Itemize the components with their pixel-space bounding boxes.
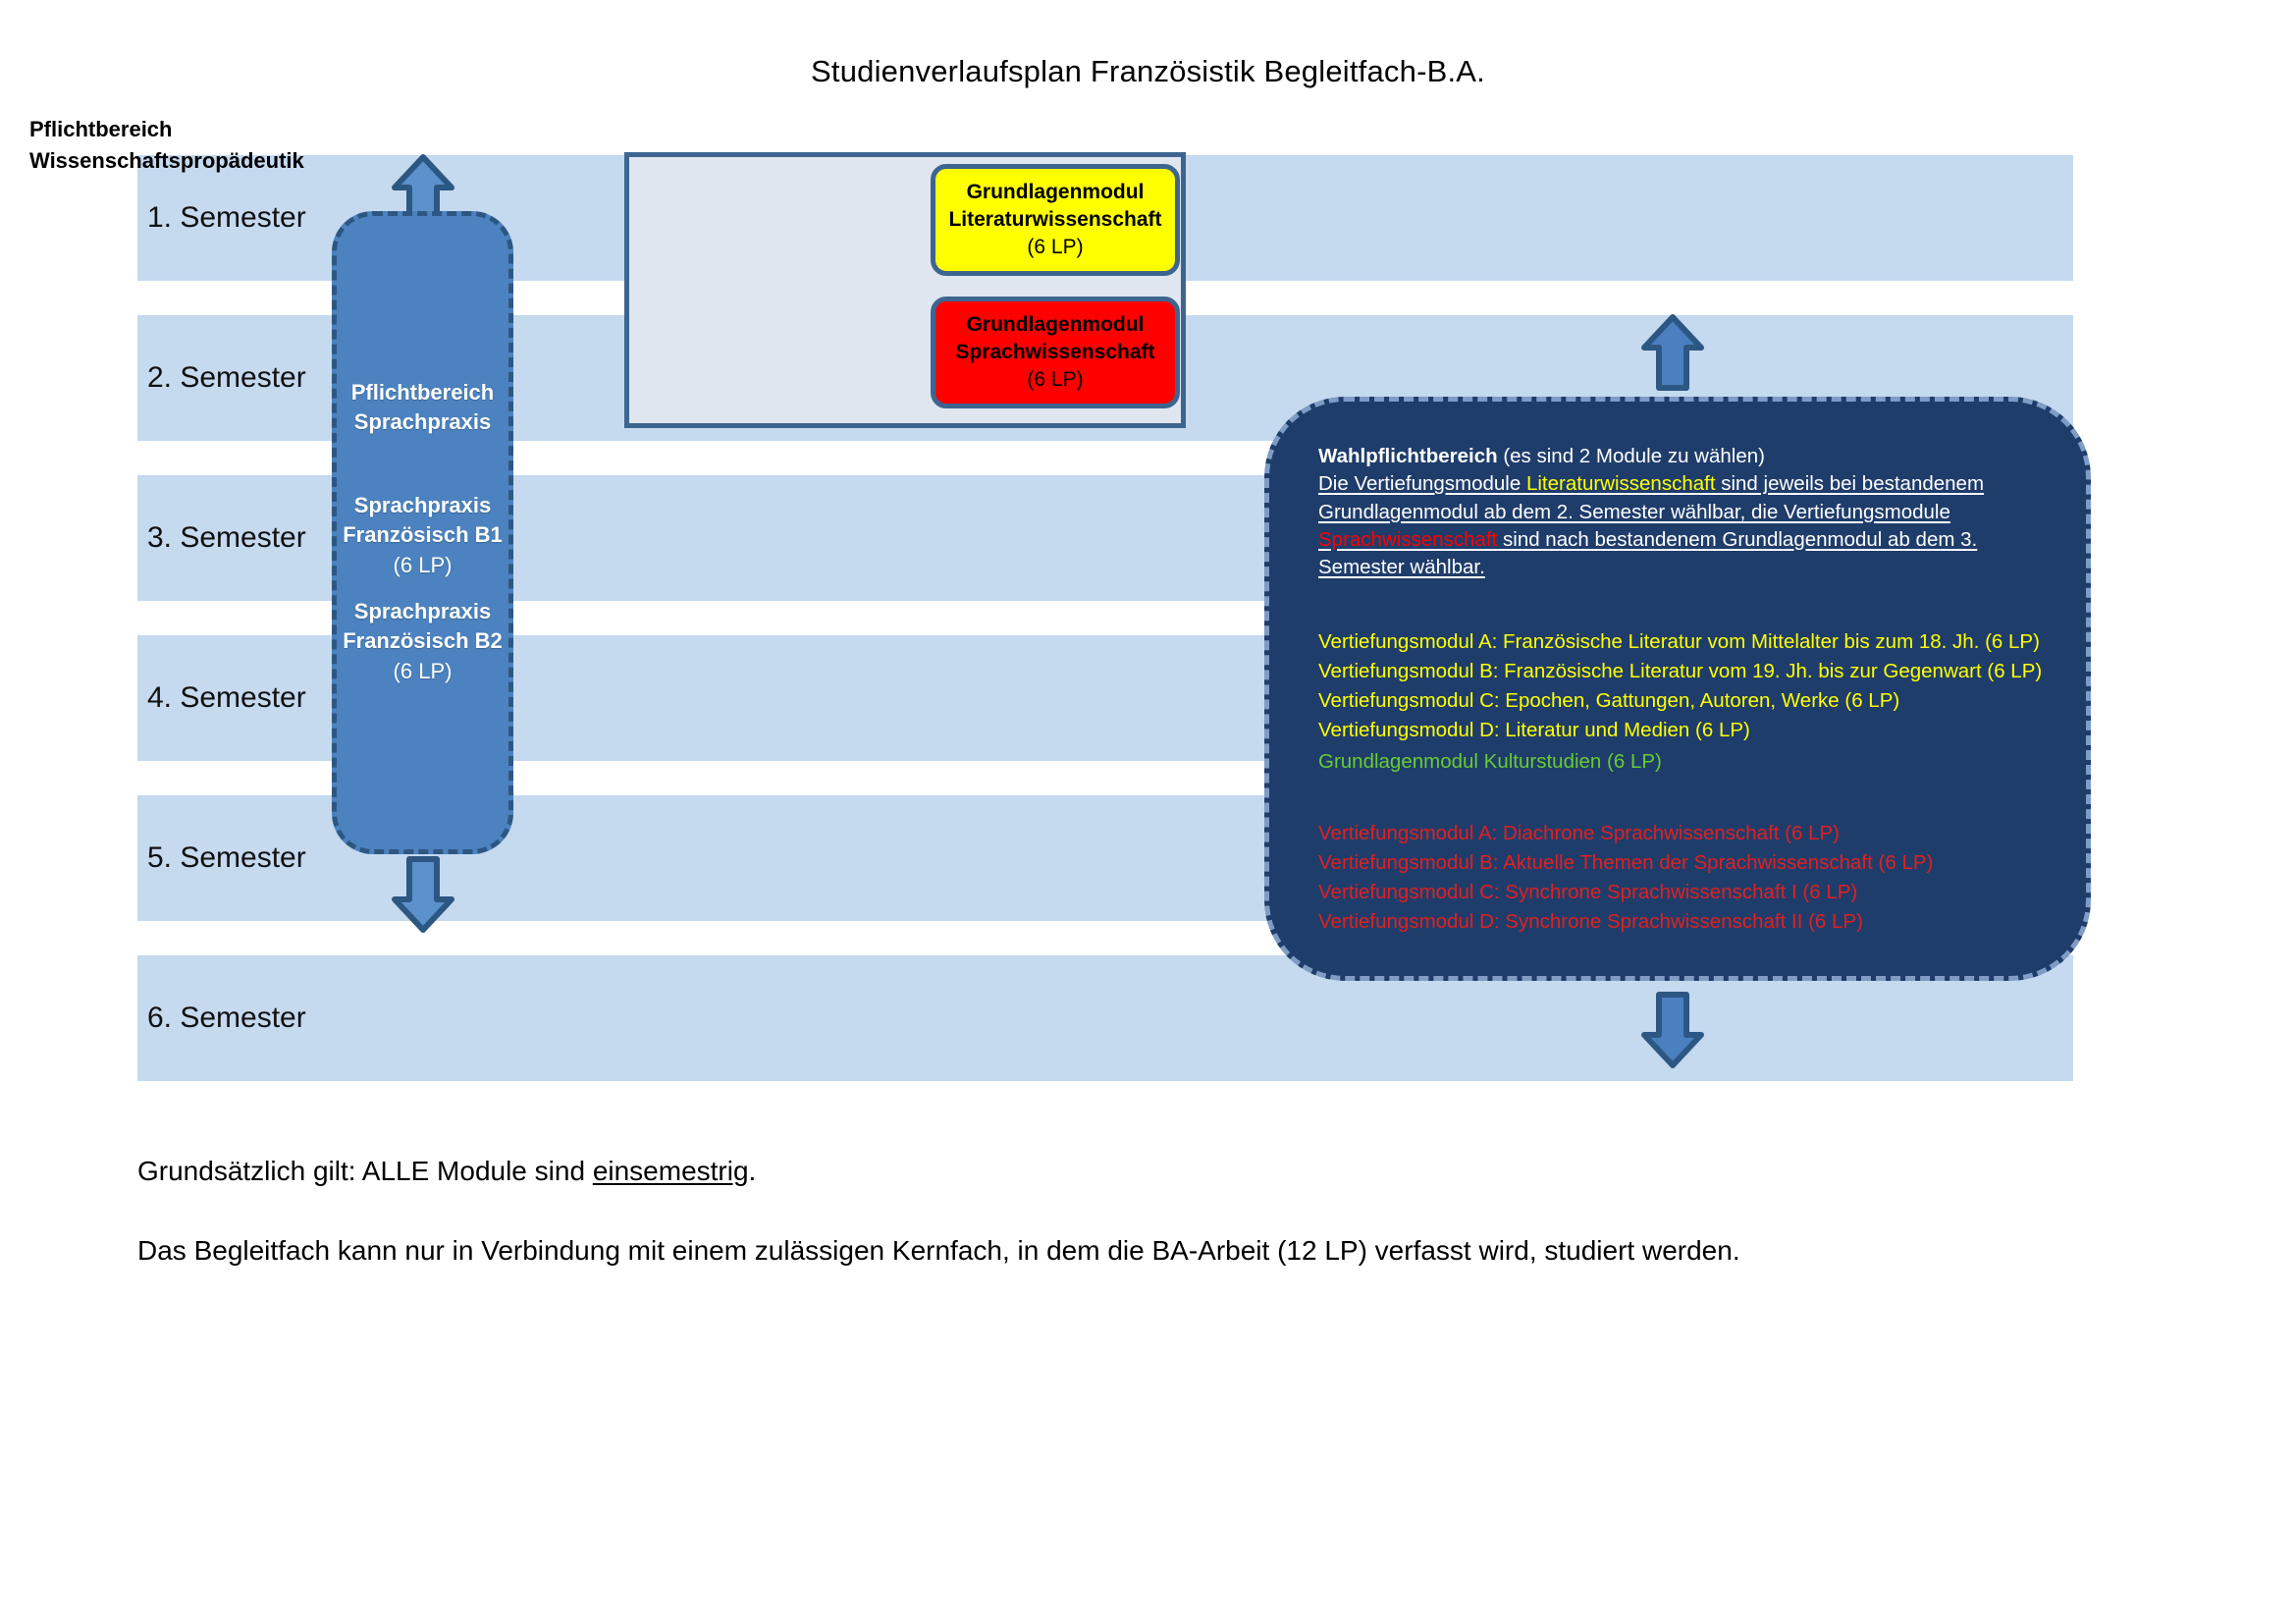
pflichtbereich-sprachpraxis-box: Pflichtbereich Sprachpraxis Sprachpraxis… xyxy=(332,211,513,854)
list-item: Vertiefungsmodul A: Französische Literat… xyxy=(1318,627,2042,657)
propaedeutik-label-line2: Wissenschaftspropädeutik xyxy=(29,145,304,177)
note-einsemestrig-pre: Grundsätzlich gilt: ALLE Module sind xyxy=(137,1156,593,1186)
list-item: Vertiefungsmodul C: Synchrone Sprachwiss… xyxy=(1318,878,1933,907)
wahlpflichtbereich-box: Wahlpflichtbereich (es sind 2 Module zu … xyxy=(1264,397,2091,981)
sprachpraxis-module-b1-line1: Sprachpraxis xyxy=(337,491,508,520)
list-item: Vertiefungsmodul C: Epochen, Gattungen, … xyxy=(1318,686,2042,716)
sprachpraxis-title-line2: Sprachpraxis xyxy=(337,407,508,437)
semester-label-6: 6. Semester xyxy=(147,1001,306,1035)
semester-label-5: 5. Semester xyxy=(147,841,306,875)
wahlpflicht-description: Wahlpflichtbereich (es sind 2 Module zu … xyxy=(1318,443,2056,581)
grundlagenmodul-literatur-line2: Literaturwissenschaft xyxy=(948,206,1161,234)
note-begleitfach: Das Begleitfach kann nur in Verbindung m… xyxy=(137,1235,1740,1267)
list-item: Vertiefungsmodul A: Diachrone Sprachwiss… xyxy=(1318,819,1933,848)
semester-label-1: 1. Semester xyxy=(147,201,306,235)
vertiefungsmodule-sprachwissenschaft-list: Vertiefungsmodul A: Diachrone Sprachwiss… xyxy=(1318,819,1933,938)
sprachpraxis-module-b1-lp: (6 LP) xyxy=(337,551,508,580)
sprachpraxis-title: Pflichtbereich Sprachpraxis xyxy=(337,378,508,436)
list-item: Vertiefungsmodul B: Französische Literat… xyxy=(1318,657,2042,686)
wahlpflicht-body-part1: Die Vertiefungsmodule xyxy=(1318,472,1526,495)
grundlagenmodul-sprach-line1: Grundlagenmodul xyxy=(967,311,1145,339)
wahlpflicht-heading-bold: Wahlpflichtbereich xyxy=(1318,445,1498,467)
semester-label-3: 3. Semester xyxy=(147,521,306,555)
sprachpraxis-module-b2: Sprachpraxis Französisch B2 (6 LP) xyxy=(337,597,508,686)
grundlagenmodul-literatur-line1: Grundlagenmodul xyxy=(967,179,1145,206)
list-item: Vertiefungsmodul D: Synchrone Sprachwiss… xyxy=(1318,907,1933,937)
wahlpflicht-heading-rest: (es sind 2 Module zu wählen) xyxy=(1498,445,1765,467)
sprachpraxis-module-b2-lp: (6 LP) xyxy=(337,657,508,686)
sprachpraxis-module-b1: Sprachpraxis Französisch B1 (6 LP) xyxy=(337,491,508,580)
list-item: Vertiefungsmodul B: Aktuelle Themen der … xyxy=(1318,848,1933,878)
wahlpflicht-body: Die Vertiefungsmodule Literaturwissensch… xyxy=(1318,470,2056,581)
sprachpraxis-module-b2-line1: Sprachpraxis xyxy=(337,597,508,626)
arrow-down-icon-wahlpflicht xyxy=(1641,992,1704,1068)
wahlpflicht-body-sprach-highlight: Sprachwissenschaft xyxy=(1318,528,1497,551)
sprachpraxis-module-b2-line2: Französisch B2 xyxy=(337,626,508,656)
semester-label-4: 4. Semester xyxy=(147,681,306,715)
note-einsemestrig-underlined: einsemestrig xyxy=(593,1156,749,1186)
grundlagenmodul-sprach-line2: Sprachwissenschaft xyxy=(955,339,1154,366)
arrow-down-icon-sprachpraxis xyxy=(392,856,454,933)
grundlagenmodul-literatur-lp: (6 LP) xyxy=(1027,234,1083,261)
arrow-up-icon-wahlpflicht xyxy=(1641,314,1704,391)
list-item: Vertiefungsmodul D: Literatur und Medien… xyxy=(1318,716,2042,745)
studienverlaufsplan-diagram: Studienverlaufsplan Französistik Begleit… xyxy=(0,0,2296,1624)
note-einsemestrig: Grundsätzlich gilt: ALLE Module sind ein… xyxy=(137,1156,756,1187)
page-title: Studienverlaufsplan Französistik Begleit… xyxy=(0,54,2296,89)
sprachpraxis-module-b1-line2: Französisch B1 xyxy=(337,520,508,550)
grundlagenmodul-kulturstudien-text: Grundlagenmodul Kulturstudien (6 LP) xyxy=(1318,750,1662,774)
sprachpraxis-title-line1: Pflichtbereich xyxy=(337,378,508,407)
note-einsemestrig-post: . xyxy=(749,1156,757,1186)
vertiefungsmodule-literatur-list: Vertiefungsmodul A: Französische Literat… xyxy=(1318,627,2042,746)
propaedeutik-label-line1: Pflichtbereich xyxy=(29,114,304,145)
grundlagenmodul-sprach-lp: (6 LP) xyxy=(1027,366,1083,394)
propaedeutik-label: Pflichtbereich Wissenschaftspropädeutik xyxy=(29,114,304,177)
semester-label-2: 2. Semester xyxy=(147,361,306,395)
wahlpflicht-body-literatur-highlight: Literaturwissenschaft xyxy=(1526,472,1716,495)
wahlpflicht-heading: Wahlpflichtbereich (es sind 2 Module zu … xyxy=(1318,443,2056,470)
grundlagenmodul-sprachwissenschaft-box: Grundlagenmodul Sprachwissenschaft (6 LP… xyxy=(931,297,1180,408)
grundlagenmodul-literaturwissenschaft-box: Grundlagenmodul Literaturwissenschaft (6… xyxy=(931,164,1180,276)
